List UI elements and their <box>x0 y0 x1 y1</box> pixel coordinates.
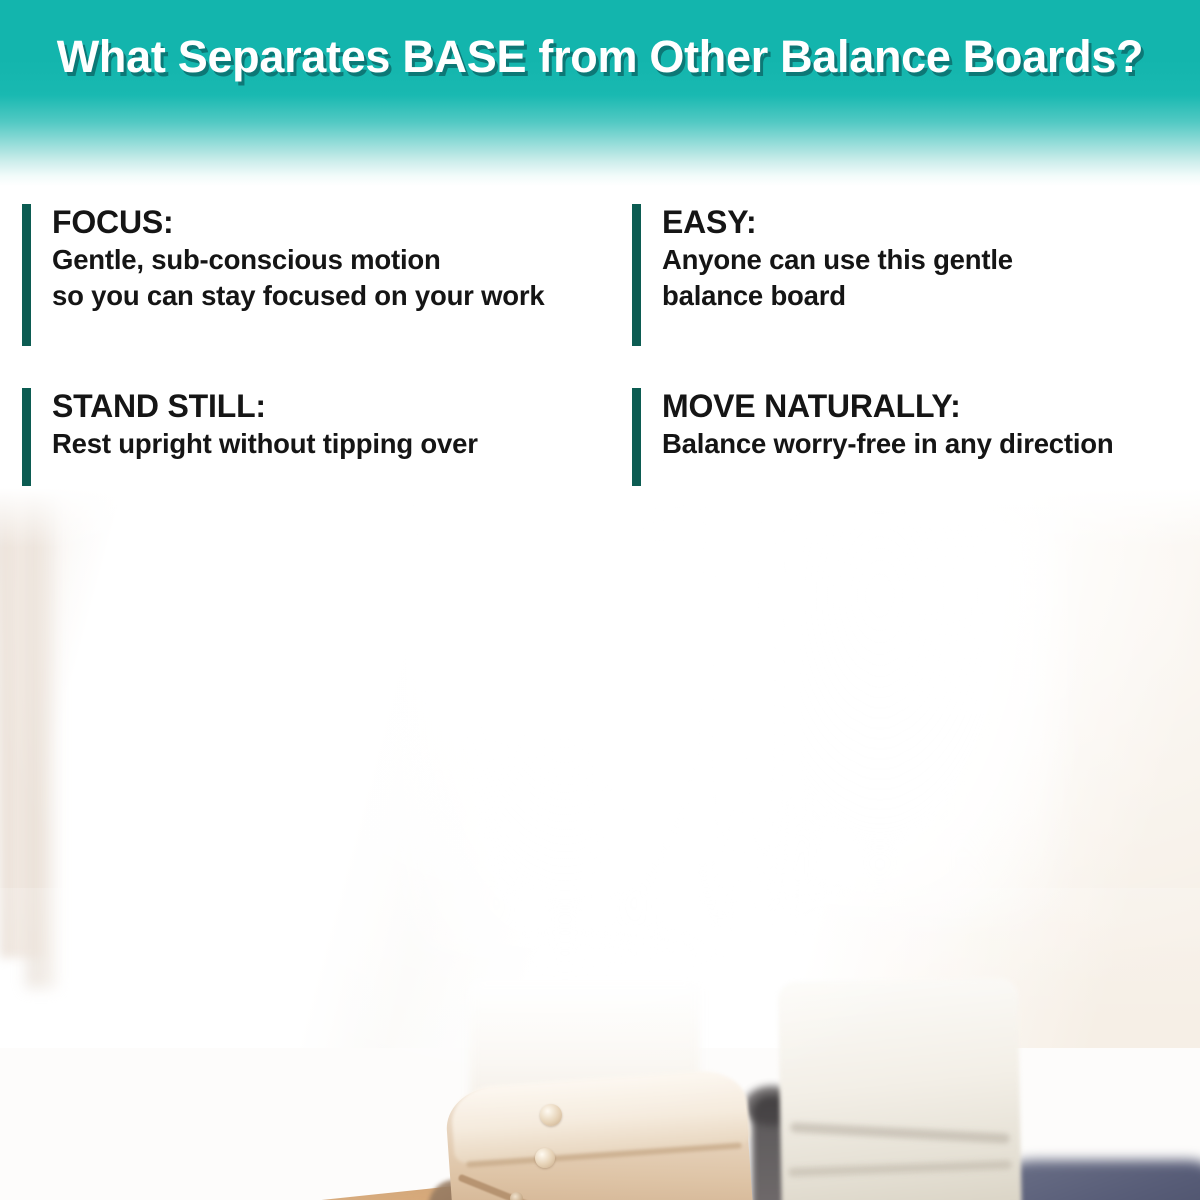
left-boot-eyelet <box>510 1192 523 1200</box>
feature-move-naturally-body: Balance worry-free in any direction <box>662 426 1200 463</box>
feature-easy-body: Anyone can use this gentle balance board <box>662 242 1200 315</box>
feature-stand-still-title: STAND STILL: <box>52 388 652 426</box>
feature-grid: FOCUS: Gentle, sub-conscious motion so y… <box>0 196 1200 496</box>
accent-bar-icon <box>632 388 641 486</box>
feature-easy-title: EASY: <box>662 204 1200 242</box>
product-photo <box>0 488 1200 1200</box>
window-glare <box>400 488 730 958</box>
feature-focus: FOCUS: Gentle, sub-conscious motion so y… <box>22 204 652 315</box>
page-title: What Separates BASE from Other Balance B… <box>0 34 1200 79</box>
feature-easy: EASY: Anyone can use this gentle balance… <box>632 204 1200 315</box>
left-boot-rivet <box>535 1148 555 1168</box>
header-banner: What Separates BASE from Other Balance B… <box>0 0 1200 186</box>
left-wall-shadow <box>26 488 56 988</box>
accent-bar-icon <box>632 204 641 346</box>
feature-stand-still-body: Rest upright without tipping over <box>52 426 652 463</box>
feature-stand-still: STAND STILL: Rest upright without tippin… <box>22 388 652 462</box>
poster: What Separates BASE from Other Balance B… <box>0 0 1200 1200</box>
accent-bar-icon <box>22 388 31 486</box>
feature-move-naturally: MOVE NATURALLY: Balance worry-free in an… <box>632 388 1200 462</box>
window-glare-secondary <box>760 488 1060 918</box>
left-boot-rivet <box>540 1104 562 1126</box>
feature-focus-title: FOCUS: <box>52 204 652 242</box>
feature-move-naturally-title: MOVE NATURALLY: <box>662 388 1200 426</box>
feature-focus-body: Gentle, sub-conscious motion so you can … <box>52 242 652 315</box>
accent-bar-icon <box>22 204 31 346</box>
